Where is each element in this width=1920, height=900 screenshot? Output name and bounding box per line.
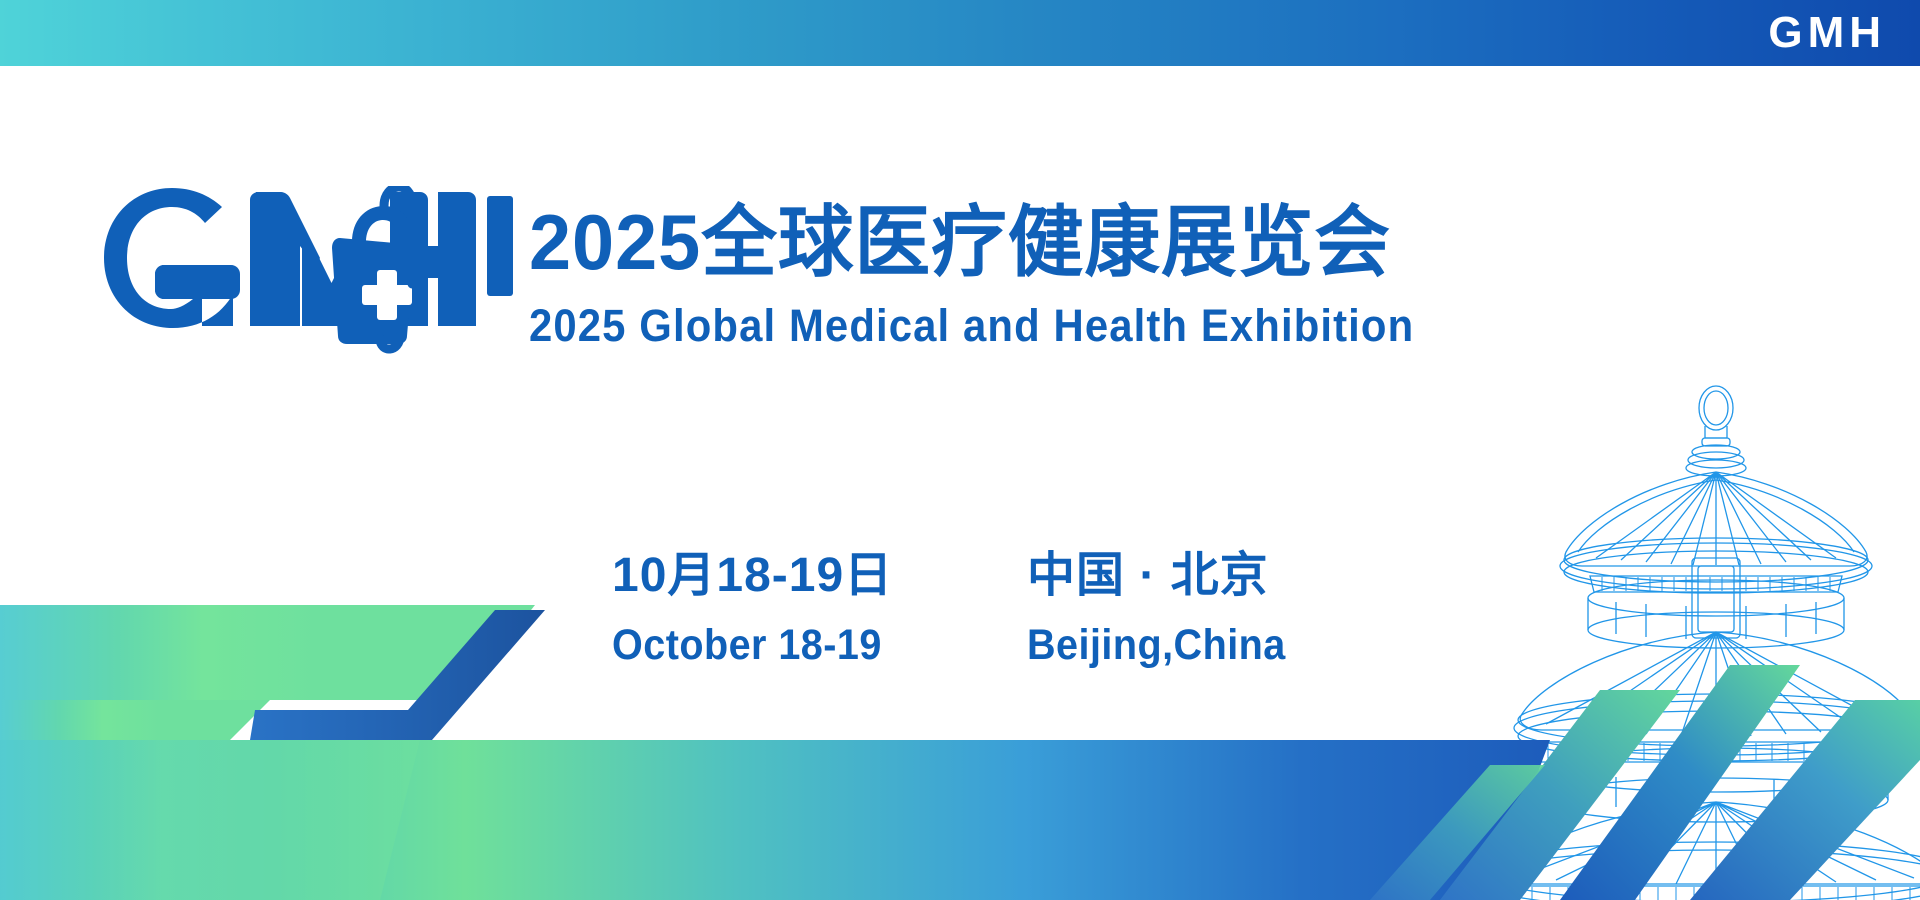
decor-shape-dark-chevron: [250, 610, 545, 740]
event-place-chinese: 中国 · 北京: [1027, 540, 1269, 612]
title-accent-bar: [487, 196, 513, 296]
info-row-chinese: 10月18-19日 中国 · 北京: [612, 540, 1332, 612]
decor-shape-green-parallelogram: [0, 605, 535, 740]
title-english: 2025 Global Medical and Health Exhibitio…: [529, 300, 1429, 352]
event-date-chinese: 10月18-19日: [612, 540, 1027, 612]
title-chinese: 2025全球医疗健康展览会: [529, 190, 1391, 294]
title-chinese-row: 2025全球医疗健康展览会: [487, 190, 1497, 296]
info-row-english: October 18-19 Beijing,China: [612, 612, 1332, 678]
event-place-english: Beijing,China: [1027, 612, 1286, 678]
brand-abbreviation: GMH: [1768, 11, 1886, 55]
top-gradient-bar: GMH: [0, 0, 1920, 66]
event-info-block: 10月18-19日 中国 · 北京 October 18-19 Beijing,…: [612, 540, 1332, 678]
gmh-logo: [104, 186, 476, 356]
decor-ribbons-right: [1370, 665, 1920, 900]
temple-of-heaven-illustration: [1486, 380, 1920, 900]
decor-shape-band-green-overlay: [0, 740, 420, 900]
event-title-block: 2025全球医疗健康展览会 2025 Global Medical and He…: [487, 190, 1497, 352]
event-banner: GMH: [0, 0, 1920, 900]
event-date-english: October 18-19: [612, 612, 994, 678]
decor-shape-main-band: [0, 740, 1550, 900]
